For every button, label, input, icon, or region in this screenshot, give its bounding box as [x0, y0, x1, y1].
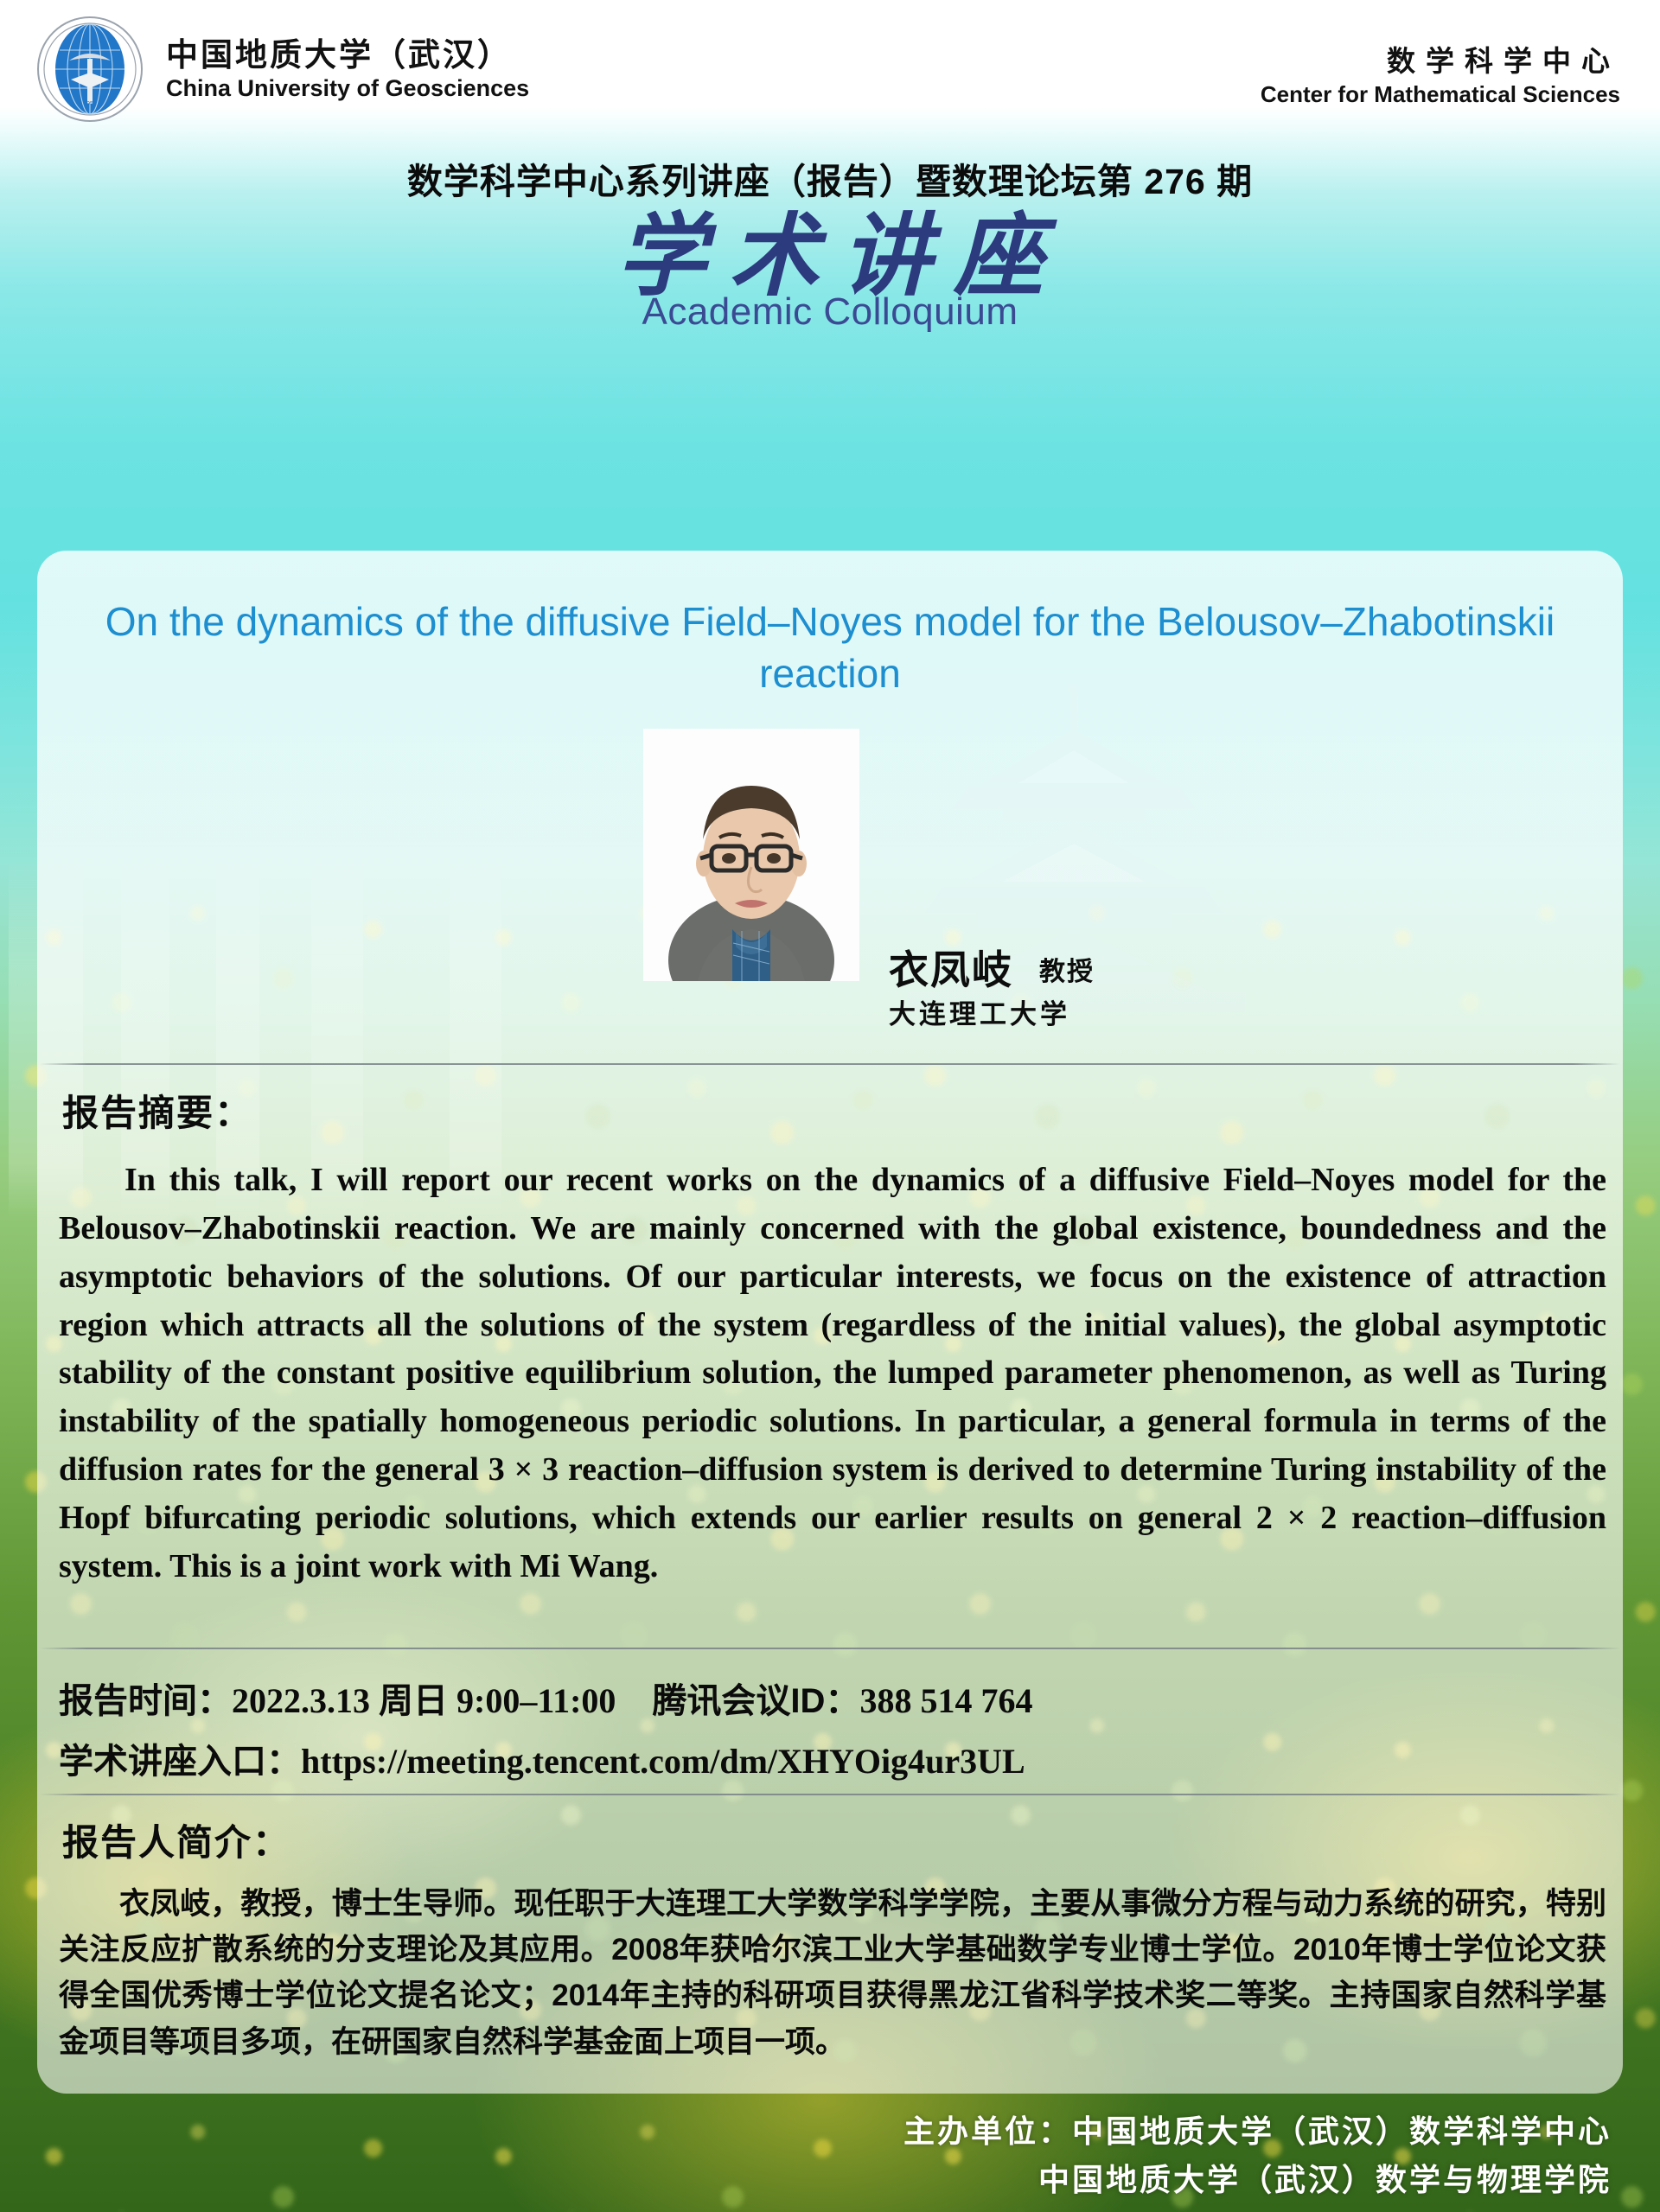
meeting-id-value: 388 514 764 — [859, 1681, 1032, 1720]
speaker-rank: 教授 — [1039, 950, 1095, 988]
center-identity: 数学科学中心 Center for Mathematical Sciences — [1261, 43, 1620, 110]
divider-above-bio — [40, 1794, 1620, 1795]
speaker-photo — [643, 729, 859, 981]
colloquium-subtitle: Academic Colloquium — [0, 290, 1660, 334]
poster-header: 1952 中国地质大学（武汉） China University of Geos… — [0, 0, 1660, 137]
university-name-en: China University of Geosciences — [166, 74, 529, 104]
meeting-entry-label: 学术讲座入口： — [59, 1743, 301, 1781]
university-name-cn: 中国地质大学（武汉） — [166, 35, 529, 74]
divider-above-abstract — [40, 1063, 1620, 1065]
university-name-block: 中国地质大学（武汉） China University of Geoscienc… — [166, 35, 529, 104]
center-name-cn: 数学科学中心 — [1261, 43, 1620, 80]
meeting-time-row: 报告时间：2022.3.13 周日 9:00–11:00腾讯会议ID：388 5… — [59, 1673, 1032, 1723]
speaker-affiliation: 大连理工大学 — [889, 992, 1070, 1031]
university-identity: 1952 中国地质大学（武汉） China University of Geos… — [36, 16, 529, 123]
university-logo-icon: 1952 — [36, 16, 144, 123]
meeting-time-value: 2022.3.13 周日 9:00–11:00 — [232, 1681, 616, 1720]
bio-heading: 报告人简介： — [62, 1814, 290, 1866]
svg-text:1952: 1952 — [83, 101, 97, 107]
talk-title: On the dynamics of the diffusive Field–N… — [104, 596, 1556, 700]
meeting-id-label: 腾讯会议ID： — [652, 1682, 859, 1720]
organizer-line-2: 中国地质大学（武汉）数学与物理学院 — [0, 2156, 1612, 2204]
abstract-heading: 报告摘要： — [62, 1084, 252, 1137]
organizer-line-1: 主办单位：中国地质大学（武汉）数学科学中心 — [0, 2107, 1612, 2156]
abstract-body: In this talk, I will report our recent w… — [59, 1157, 1606, 1591]
center-name-en: Center for Mathematical Sciences — [1261, 80, 1620, 110]
bio-body: 衣凤岐，教授，博士生导师。现任职于大连理工大学数学科学学院，主要从事微分方程与动… — [59, 1881, 1606, 2065]
divider-above-meeting — [40, 1648, 1620, 1649]
poster-footer: 主办单位：中国地质大学（武汉）数学科学中心 中国地质大学（武汉）数学与物理学院 — [0, 2107, 1660, 2204]
meeting-entry-row: 学术讲座入口：https://meeting.tencent.com/dm/XH… — [59, 1733, 1025, 1783]
meeting-entry-url[interactable]: https://meeting.tencent.com/dm/XHYOig4ur… — [301, 1742, 1025, 1781]
meeting-time-label: 报告时间： — [59, 1682, 232, 1720]
speaker-name: 衣凤岐 — [889, 939, 1013, 996]
series-line: 数学科学中心系列讲座（报告）暨数理论坛第 276 期 — [0, 152, 1660, 204]
